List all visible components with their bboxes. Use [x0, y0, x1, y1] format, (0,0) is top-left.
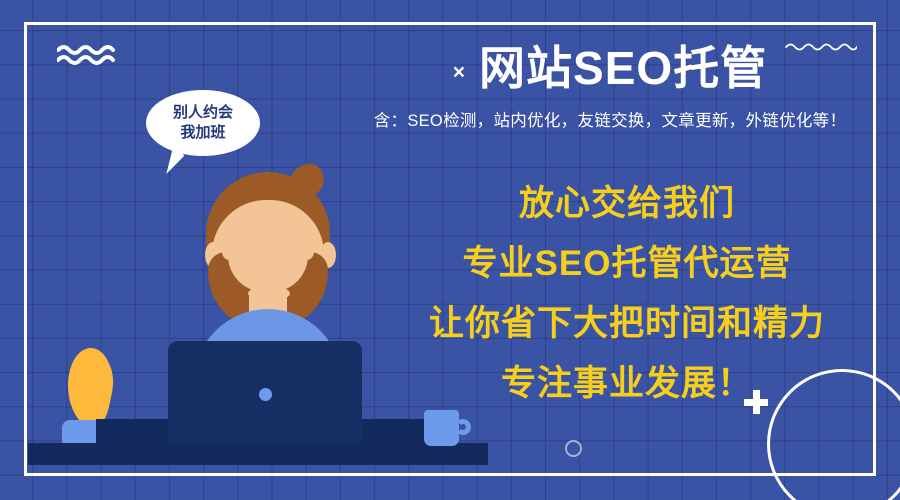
sales-line-3: 让你省下大把时间和精力: [392, 306, 862, 341]
headline-subtitle: 含：SEO检测，站内优化，友链交换，文章更新，外链优化等！: [330, 107, 890, 131]
headline-block: × 网站SEO托管 含：SEO检测，站内优化，友链交换，文章更新，外链优化等！: [330, 42, 890, 131]
sales-line-2: 专业SEO托管代运营: [392, 246, 862, 281]
coffee-mug-handle: [455, 419, 471, 435]
sales-copy-block: 放心交给我们 专业SEO托管代运营 让你省下大把时间和精力 专注事业发展！: [392, 186, 862, 401]
coffee-mug-icon: [424, 410, 459, 446]
page-title: 网站SEO托管: [479, 42, 767, 95]
seo-hosting-banner: 别人约会 我加班 × 网站SEO托管 含：SEO检测，站内优化，友链交换，文章更…: [0, 0, 900, 500]
sales-line-1: 放心交给我们: [392, 186, 862, 221]
headline-row: × 网站SEO托管: [330, 42, 890, 95]
cross-bullet-icon: ×: [453, 62, 465, 83]
desk-surface: [28, 443, 488, 465]
speech-bubble-line-1: 别人约会: [173, 103, 233, 123]
laptop-logo-dot: [259, 388, 272, 401]
wave-lines-icon: [57, 44, 121, 66]
speech-bubble-line-2: 我加班: [180, 123, 225, 143]
speech-bubble: 别人约会 我加班: [146, 90, 260, 156]
sales-line-4: 专注事业发展！: [392, 366, 862, 401]
mouse-ring-decoration: [565, 440, 582, 457]
